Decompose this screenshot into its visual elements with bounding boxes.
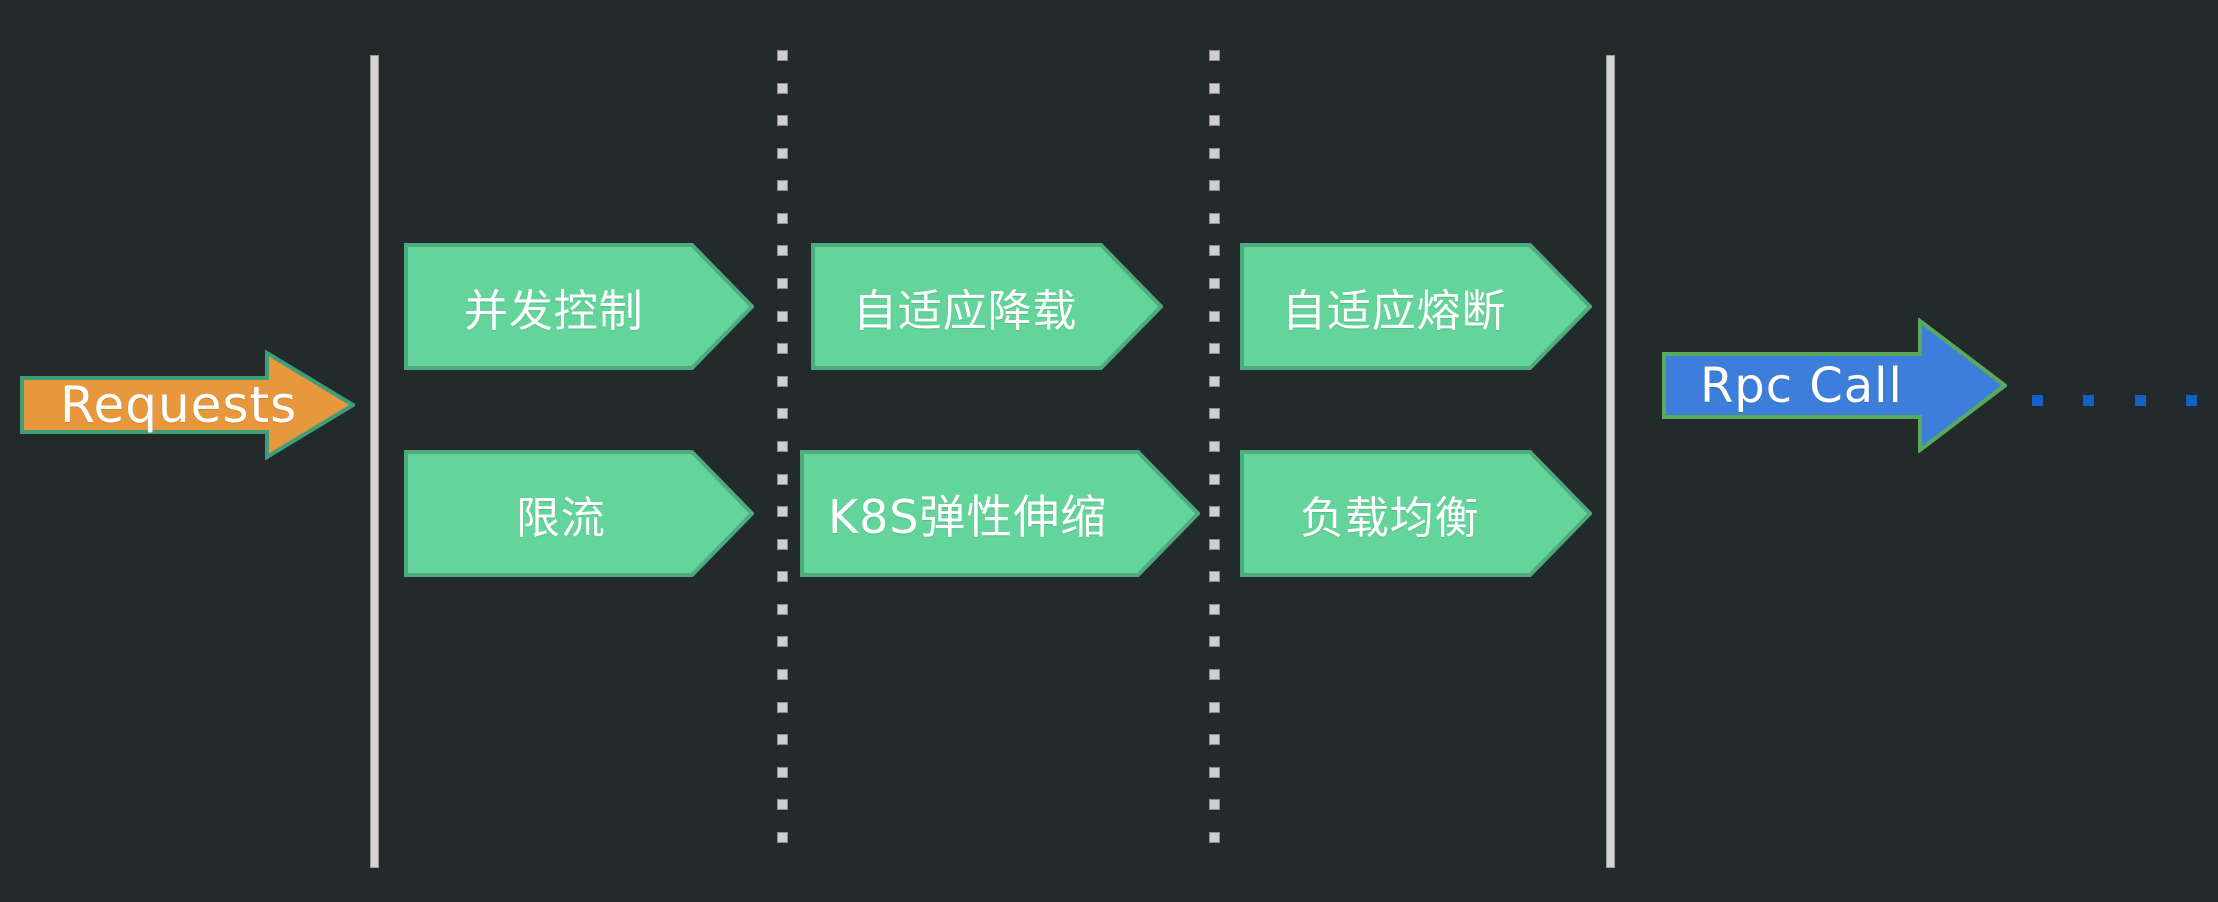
divider-dot (777, 278, 788, 289)
divider-dot (777, 702, 788, 713)
divider-dot (1209, 799, 1220, 810)
requests-arrow[interactable]: Requests (20, 350, 355, 460)
divider-dot (777, 571, 788, 582)
divider-dot (1209, 278, 1220, 289)
trailing-dot (2135, 395, 2146, 406)
divider-dot (1209, 148, 1220, 159)
diagram-canvas: Requests (0, 0, 2218, 902)
divider-dot (1209, 376, 1220, 387)
divider-dot (1209, 767, 1220, 778)
divider-dot (1209, 245, 1220, 256)
dotted-divider-2 (1209, 50, 1220, 843)
divider-dot (777, 636, 788, 647)
divider-dot (777, 832, 788, 843)
divider-dot (777, 539, 788, 550)
divider-dot (777, 408, 788, 419)
divider-dot (1209, 474, 1220, 485)
divider-dot (1209, 408, 1220, 419)
divider-dot (777, 115, 788, 126)
stage-arrow-label: 自适应降载 (853, 275, 1077, 339)
divider-dot (1209, 506, 1220, 517)
stage-arrow-label: 负载均衡 (1300, 482, 1480, 546)
stage-arrow-label: 自适应熔断 (1282, 275, 1506, 339)
divider-dot (777, 767, 788, 778)
requests-arrow-label: Requests (60, 376, 297, 434)
divider-dot (777, 83, 788, 94)
boundary-line-left (370, 55, 379, 868)
divider-dot (777, 245, 788, 256)
divider-dot (1209, 311, 1220, 322)
rpc-call-arrow[interactable]: Rpc Call (1662, 318, 2007, 453)
stage-arrow-label: 限流 (516, 482, 606, 546)
divider-dot (1209, 213, 1220, 224)
trailing-dots (2032, 395, 2197, 406)
stage-arrow-adaptive-circuit-breaker[interactable]: 自适应熔断 (1240, 243, 1592, 370)
stage-arrow-k8s-elastic-scaling[interactable]: K8S弹性伸缩 (800, 450, 1200, 577)
stage-arrow-label: 并发控制 (464, 275, 644, 339)
divider-dot (1209, 441, 1220, 452)
divider-dot (777, 213, 788, 224)
divider-dot (1209, 180, 1220, 191)
divider-dot (777, 50, 788, 61)
divider-dot (1209, 604, 1220, 615)
stage-arrow-concurrency-control[interactable]: 并发控制 (404, 243, 754, 370)
divider-dot (1209, 539, 1220, 550)
divider-dot (777, 441, 788, 452)
trailing-dot (2186, 395, 2197, 406)
divider-dot (777, 148, 788, 159)
divider-dot (1209, 83, 1220, 94)
divider-dot (1209, 115, 1220, 126)
dotted-divider-1 (777, 50, 788, 843)
divider-dot (777, 506, 788, 517)
divider-dot (1209, 636, 1220, 647)
divider-dot (1209, 571, 1220, 582)
stage-arrow-load-balancing[interactable]: 负载均衡 (1240, 450, 1592, 577)
divider-dot (1209, 669, 1220, 680)
divider-dot (1209, 50, 1220, 61)
divider-dot (777, 180, 788, 191)
divider-dot (1209, 702, 1220, 713)
stage-arrow-label: K8S弹性伸缩 (828, 481, 1107, 547)
divider-dot (1209, 343, 1220, 354)
divider-dot (1209, 734, 1220, 745)
divider-dot (777, 799, 788, 810)
divider-dot (777, 311, 788, 322)
divider-dot (1209, 832, 1220, 843)
trailing-dot (2032, 395, 2043, 406)
stage-arrow-rate-limiting[interactable]: 限流 (404, 450, 754, 577)
boundary-line-right (1606, 55, 1615, 868)
divider-dot (777, 343, 788, 354)
stage-arrow-adaptive-load-shedding[interactable]: 自适应降载 (811, 243, 1163, 370)
divider-dot (777, 669, 788, 680)
trailing-dot (2083, 395, 2094, 406)
divider-dot (777, 474, 788, 485)
divider-dot (777, 376, 788, 387)
divider-dot (777, 604, 788, 615)
rpc-call-arrow-label: Rpc Call (1700, 358, 1903, 414)
divider-dot (777, 734, 788, 745)
